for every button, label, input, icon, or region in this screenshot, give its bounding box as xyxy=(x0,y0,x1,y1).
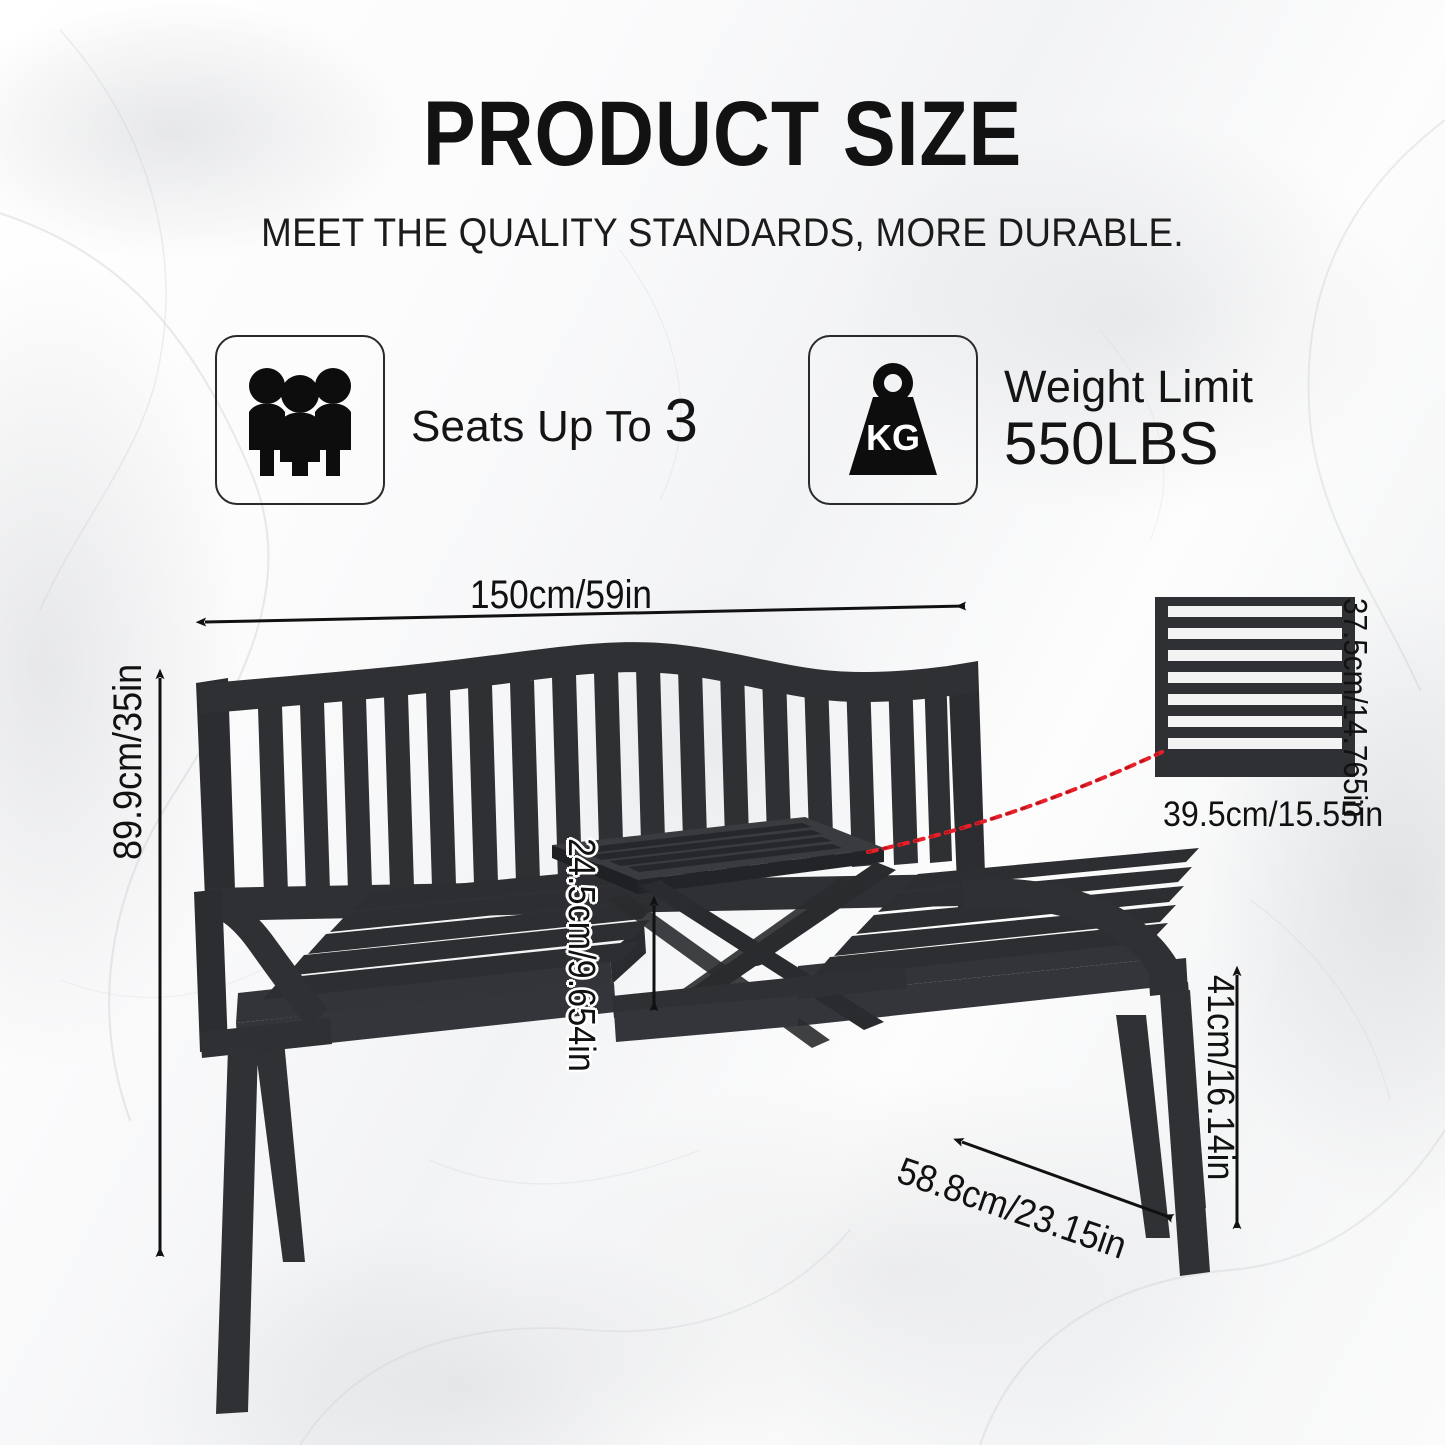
label-overall-width: 150cm/59in xyxy=(470,575,652,615)
label-overall-height: 89.9cm/35in xyxy=(108,664,148,860)
infographic-page: PRODUCT SIZE MEET THE QUALITY STANDARDS,… xyxy=(0,0,1445,1445)
inset-tabletop-detail xyxy=(1155,597,1361,777)
label-inset-width: 39.5cm/15.55in xyxy=(1163,797,1383,832)
inset-frame xyxy=(1155,597,1355,777)
label-seat-height: 41cm/16.14in xyxy=(1201,975,1239,1180)
label-inset-height: 37.5cm/14.765in xyxy=(1339,598,1372,818)
bench-illustration xyxy=(194,642,1210,1414)
label-table-height: 24.5cm/9.654in xyxy=(562,838,600,1072)
bench-front-legs xyxy=(216,990,1210,1414)
product-diagram xyxy=(0,0,1445,1445)
